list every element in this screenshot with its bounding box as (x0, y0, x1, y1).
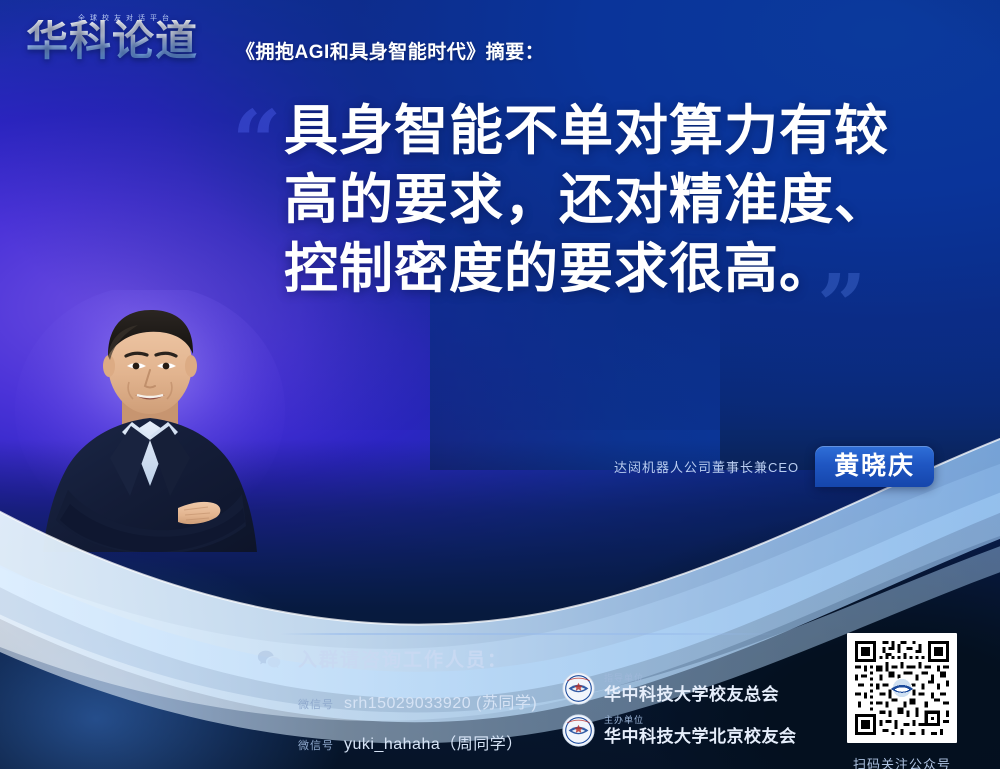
university-seal-icon (562, 714, 595, 747)
footer-divider (280, 633, 778, 635)
quote-line: 高的要求，还对精准度、 (284, 165, 952, 234)
poster-header: 全球校友对话平台 华科论道 《拥抱AGI和具身智能时代》摘要： (26, 12, 544, 74)
contact-title: 入群请咨询工作人员： (298, 645, 508, 672)
quote-line: 控制密度的要求很高。 (284, 234, 952, 303)
quote-open-mark: “ (232, 100, 281, 186)
organisation-row: 指导单位 华中科技大学校友总会 (562, 672, 797, 705)
university-seal-icon (562, 672, 595, 705)
organisation-text: 指导单位 华中科技大学校友总会 (604, 674, 779, 703)
quote-lines: 具身智能不单对算力有较 高的要求，还对精准度、 控制密度的要求很高。 (284, 96, 952, 303)
qr-code[interactable] (847, 633, 957, 743)
qr-caption: 扫码关注公众号 (838, 754, 966, 769)
brand-logo: 全球校友对话平台 华科论道 (26, 12, 220, 74)
quote-line: 具身智能不单对算力有较 (284, 96, 952, 165)
contact-label: 微信号 (298, 696, 334, 712)
organisation-row: 主办单位 华中科技大学北京校友会 (562, 714, 797, 747)
contact-label: 微信号 (298, 737, 334, 753)
poster-canvas: 全球校友对话平台 华科论道 《拥抱AGI和具身智能时代》摘要： “ ” 具身智能… (0, 0, 1000, 769)
organisation-text: 主办单位 华中科技大学北京校友会 (604, 716, 797, 745)
organisation-name: 华中科技大学校友总会 (604, 686, 779, 703)
organisation-list: 指导单位 华中科技大学校友总会 主办单位 华中科技大学北京校友会 (562, 672, 797, 756)
speaker-attribution: 达闼机器人公司董事长兼CEO 黄晓庆 (614, 446, 934, 487)
contact-header: 入群请咨询工作人员： (256, 645, 816, 672)
page-title: 《拥抱AGI和具身智能时代》摘要： (236, 37, 544, 64)
contact-value: yuki_hahaha（周同学） (344, 730, 523, 754)
quote-block: “ ” 具身智能不单对算力有较 高的要求，还对精准度、 控制密度的要求很高。 (232, 96, 952, 303)
brand-name: 华科论道 (26, 20, 198, 62)
organisation-kind: 主办单位 (604, 716, 797, 725)
speaker-name-badge: 黄晓庆 (815, 446, 934, 487)
speaker-role: 达闼机器人公司董事长兼CEO (614, 457, 799, 476)
organisation-name: 华中科技大学北京校友会 (604, 728, 797, 745)
organisation-kind: 指导单位 (604, 674, 779, 683)
wechat-icon (256, 649, 282, 669)
speaker-name: 黄晓庆 (834, 453, 915, 478)
contact-value: srh15029033920 (苏同学) (344, 689, 537, 713)
qr-block: 扫码关注公众号 (838, 633, 966, 769)
